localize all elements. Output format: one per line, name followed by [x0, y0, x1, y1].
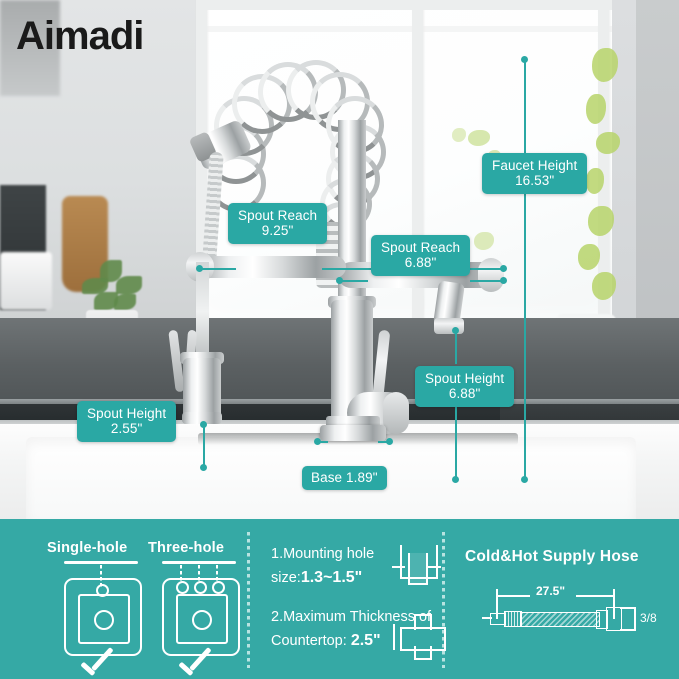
hose-end-right-icon — [606, 607, 622, 631]
callout-label: Spout Height — [425, 371, 504, 386]
spec-line-2-value-row: Countertop: 2.5" — [271, 632, 381, 650]
three-hole-hole — [194, 581, 207, 594]
window-frame-top — [196, 0, 616, 10]
three-hole-title: Three-hole — [148, 540, 224, 556]
leader-dot — [452, 476, 459, 483]
wand-body — [183, 358, 221, 420]
hose-braid-icon — [520, 612, 600, 627]
hose-dim-line-right — [576, 595, 614, 597]
leader-dot — [521, 56, 528, 63]
hose-thread-label: 3/8 — [640, 611, 657, 625]
single-hole-title: Single-hole — [47, 540, 127, 556]
hose-tail-left — [482, 617, 492, 619]
leader-dot — [200, 421, 207, 428]
hose-dim-line-left — [496, 595, 530, 597]
single-hole-check-icon — [82, 655, 120, 677]
spec-line-2-value: 2.5" — [351, 632, 381, 649]
callout-label: Spout Reach — [238, 208, 317, 223]
callout-value: 9.25" — [238, 223, 317, 238]
callout-value: 6.88" — [425, 386, 504, 401]
faucet-spout-tip — [434, 318, 464, 334]
leader-dot — [200, 464, 207, 471]
faucet-handle-cap — [383, 392, 409, 434]
product-photo: Faucet Height 16.53" Spout Reach 9.25" S… — [0, 0, 679, 519]
brand-logo: Aimadi — [16, 14, 143, 59]
callout-spout-height-lower: Spout Height 6.88" — [415, 366, 514, 407]
spec-line-1-value-row: size:1.3~1.5" — [271, 569, 362, 587]
single-hole-hole — [96, 584, 109, 597]
three-hole-hole — [212, 581, 225, 594]
callout-value: 6.88" — [381, 255, 460, 270]
leader-dot — [314, 438, 321, 445]
leader-spout-reach-9-left — [200, 268, 236, 270]
leader-spout-height-6-bottom — [455, 406, 457, 480]
panel-divider-1 — [247, 532, 250, 668]
callout-label: Base 1.89" — [311, 470, 378, 485]
leader-faucet-height-top — [524, 60, 526, 160]
leader-dot — [452, 327, 459, 334]
callout-spout-reach-upper: Spout Reach 9.25" — [228, 203, 327, 244]
spec-line-1-label: size: — [271, 570, 301, 586]
countertop-arrow — [393, 624, 395, 650]
mounting-arrow-right — [428, 566, 441, 568]
leader-spout-reach-6-right — [470, 280, 504, 282]
leader-spout-reach-6-left — [340, 280, 368, 282]
callout-base: Base 1.89" — [302, 466, 387, 490]
callout-value: 2.55" — [87, 421, 166, 436]
hose-thread-tick — [634, 607, 636, 631]
countertop-stem-icon — [414, 614, 432, 630]
three-hole-hole — [176, 581, 189, 594]
hose-length-label: 27.5" — [536, 584, 565, 598]
callout-faucet-height: Faucet Height 16.53" — [482, 153, 587, 194]
plate-stack — [0, 252, 52, 310]
leader-spout-height-6-top — [455, 330, 457, 364]
hose-thread-line-bottom — [620, 629, 635, 631]
mounting-hole-inner-icon — [408, 553, 428, 585]
leader-dot — [386, 438, 393, 445]
leader-dot — [500, 265, 507, 272]
hose-thread-line-top — [620, 607, 635, 609]
leader-faucet-height-bottom — [524, 190, 526, 480]
wand-stem — [196, 262, 209, 362]
leader-dot — [521, 476, 528, 483]
faucet-base — [320, 425, 386, 441]
callout-label: Spout Height — [87, 406, 166, 421]
hose-title: Cold&Hot Supply Hose — [465, 548, 639, 566]
spec-line-1-prefix: 1.Mounting hole — [271, 546, 374, 562]
callout-spout-height-wand: Spout Height 2.55" — [77, 401, 176, 442]
wand-arm — [196, 256, 346, 278]
product-infographic: Faucet Height 16.53" Spout Reach 9.25" S… — [0, 0, 679, 679]
callout-label: Faucet Height — [492, 158, 577, 173]
mounting-arrow-left — [392, 566, 405, 568]
three-hole-underline — [162, 561, 236, 564]
wall-right-edge — [636, 0, 679, 340]
spec-line-2-prefix: 2.Maximum Thickness of — [271, 609, 431, 625]
leader-dot — [336, 277, 343, 284]
sink-drain-shape — [192, 610, 212, 630]
single-hole-underline — [64, 561, 138, 564]
countertop-nut-icon — [414, 646, 432, 660]
leader-dot — [196, 265, 203, 272]
callout-label: Spout Reach — [381, 240, 460, 255]
potted-plant — [78, 258, 146, 318]
faucet-arm-cap — [478, 258, 504, 292]
sink-drain-shape — [94, 610, 114, 630]
spec-line-1-value: 1.3~1.5" — [301, 569, 362, 586]
leader-dot — [500, 277, 507, 284]
callout-spout-reach-lower: Spout Reach 6.88" — [371, 235, 470, 276]
three-hole-check-icon — [180, 655, 218, 677]
callout-value: 16.53" — [492, 173, 577, 188]
spec-line-2-label: Countertop: — [271, 633, 347, 649]
window-frame-top2 — [196, 26, 616, 32]
